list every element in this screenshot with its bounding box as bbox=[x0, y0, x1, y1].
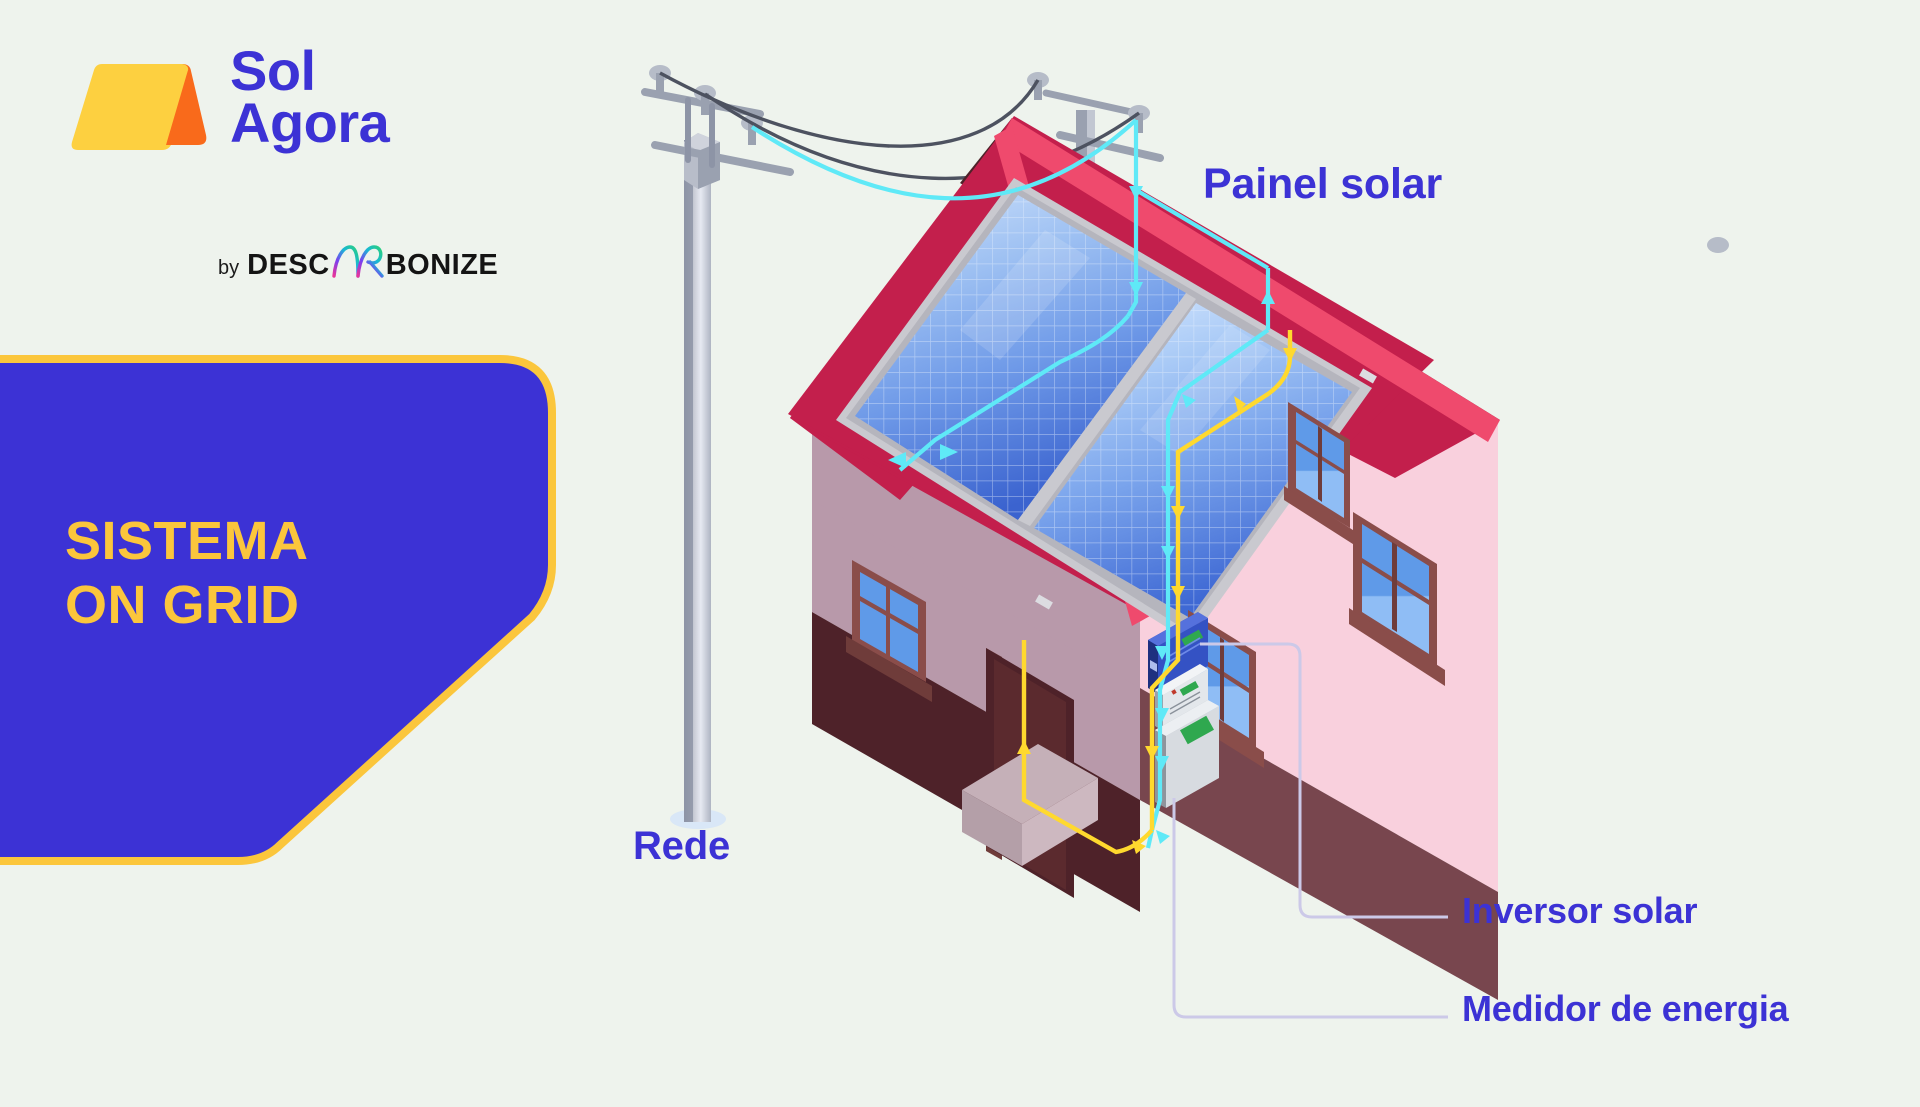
house-icon bbox=[788, 116, 1500, 1000]
byline-brand: DESC bbox=[247, 240, 498, 282]
infographic-canvas: Sol Agora by DESC bbox=[0, 0, 1920, 1107]
brand-logo[interactable]: Sol Agora by DESC bbox=[70, 45, 490, 245]
logo-word-line2: Agora bbox=[230, 97, 389, 149]
label-inversor-solar: Inversor solar bbox=[1462, 890, 1697, 932]
byline-brand-post: BONIZE bbox=[386, 249, 499, 282]
sistema-on-grid-banner: SISTEMA ON GRID bbox=[0, 355, 570, 865]
logo-wordmark: Sol Agora bbox=[230, 45, 389, 148]
banner-shape bbox=[0, 355, 570, 865]
byline-brand-pre: DESC bbox=[247, 249, 330, 282]
label-rede: Rede bbox=[633, 824, 730, 869]
byline-prefix: by bbox=[218, 257, 239, 280]
byline-brand-accent-ar-icon bbox=[330, 244, 386, 278]
logo-byline: by DESC bbox=[218, 240, 498, 282]
label-medidor-de-energia: Medidor de energia bbox=[1462, 988, 1788, 1030]
solar-panel-logo-icon bbox=[70, 50, 215, 160]
label-painel-solar: Painel solar bbox=[1203, 160, 1442, 209]
